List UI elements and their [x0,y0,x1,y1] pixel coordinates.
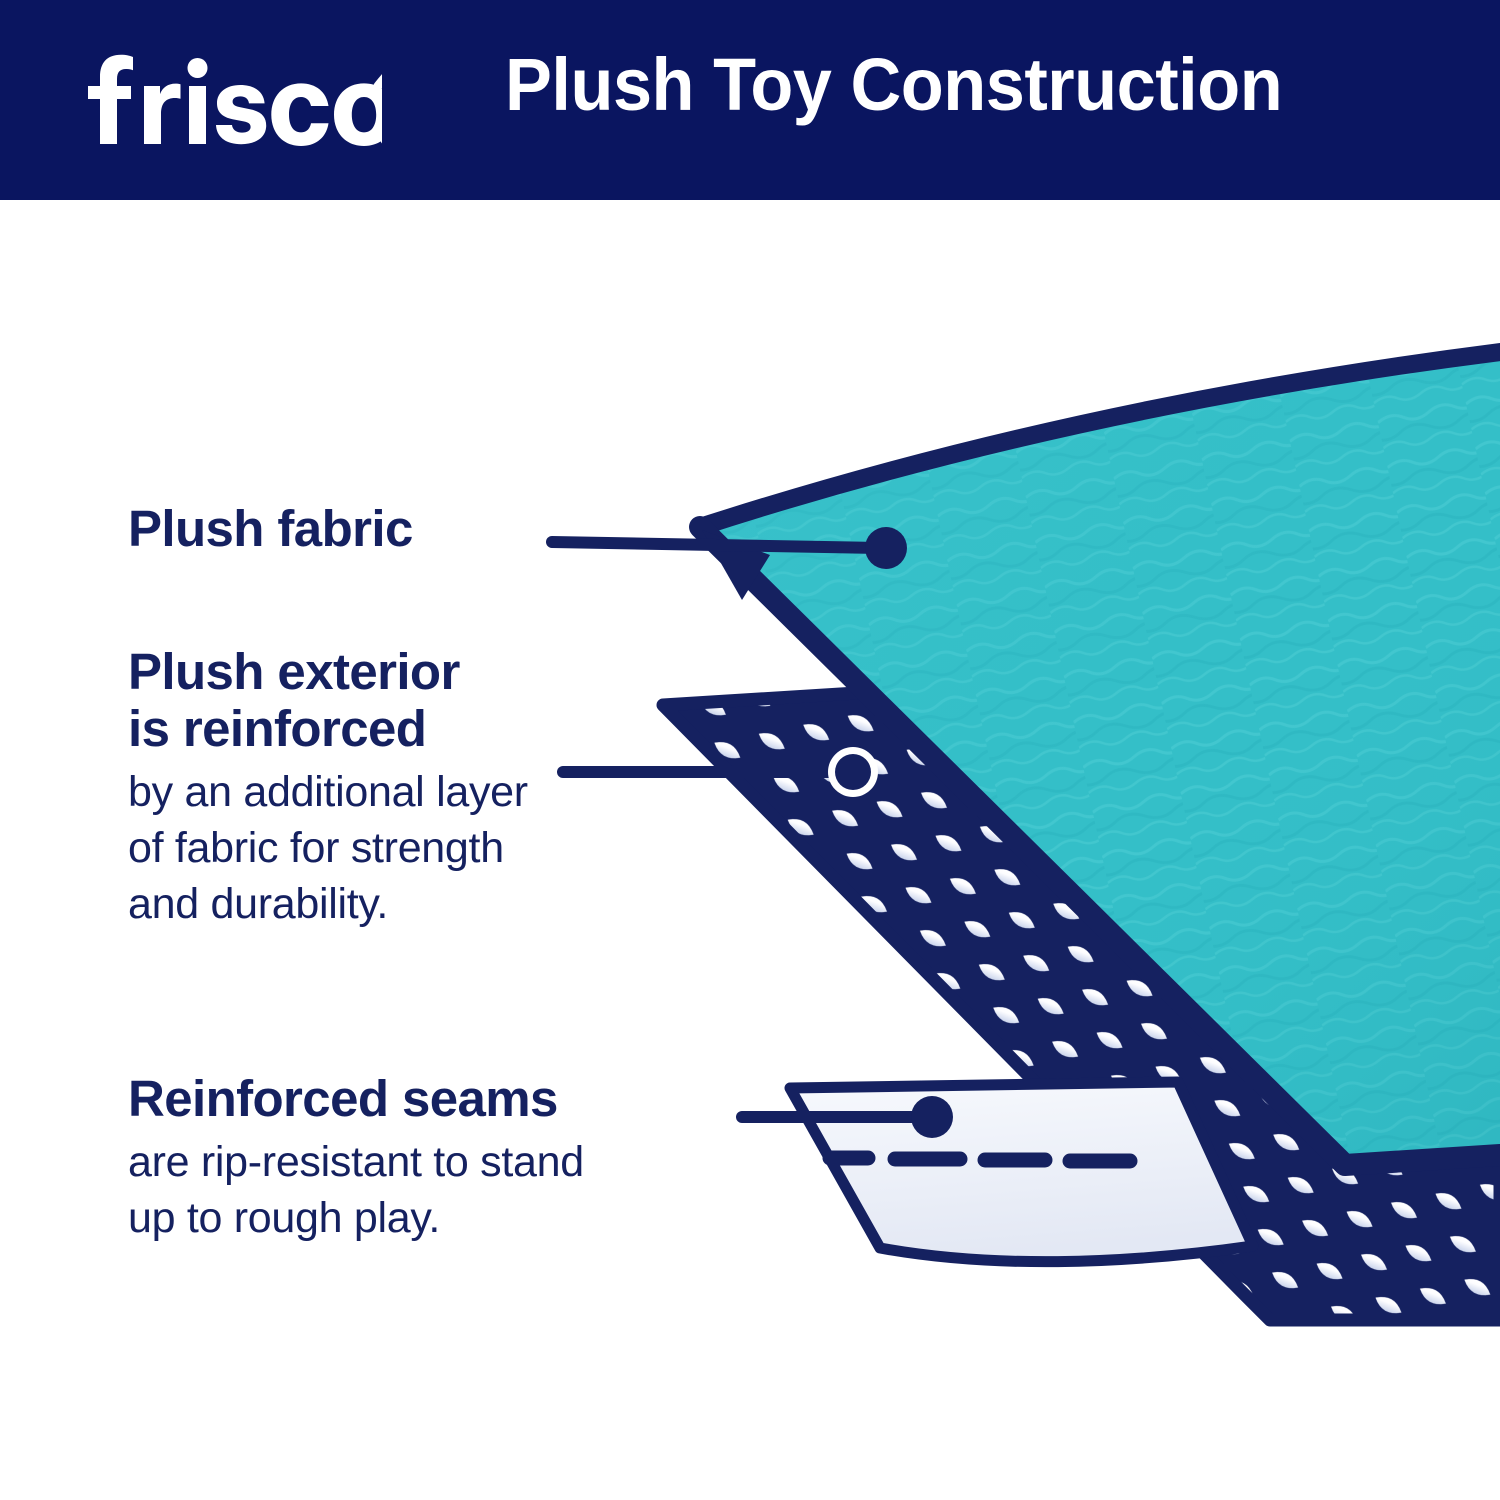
callout-dot-ring-plush-exterior [828,747,878,797]
callout-plush-exterior: Plush exterior is reinforced by an addit… [128,643,528,933]
header-bar: R Plush Toy Construction [0,0,1500,200]
callout-reinforced-seams: Reinforced seams are rip-resistant to st… [128,1070,584,1247]
infographic-root: R Plush Toy Construction [0,0,1500,1500]
seam-flap [790,1082,1253,1262]
callout-reinforced-seams-title: Reinforced seams [128,1070,584,1127]
stitch-line [830,1158,1130,1161]
callout-text-column: Plush fabric Plush exterior is reinforce… [0,200,800,1500]
callout-plush-fabric-title: Plush fabric [128,500,413,557]
page-title: Plush Toy Construction [505,48,1282,122]
frisco-logo: R [82,46,382,151]
callout-reinforced-seams-body: are rip-resistant to stand up to rough p… [128,1135,584,1247]
callout-dot-plush-fabric [865,527,907,569]
callout-plush-exterior-body: by an additional layer of fabric for str… [128,765,528,933]
callout-plush-fabric: Plush fabric [128,500,413,565]
callout-dot-plush-exterior [835,754,871,790]
callout-plush-exterior-title: Plush exterior is reinforced [128,643,528,757]
callout-dot-reinforced-seams [911,1096,953,1138]
